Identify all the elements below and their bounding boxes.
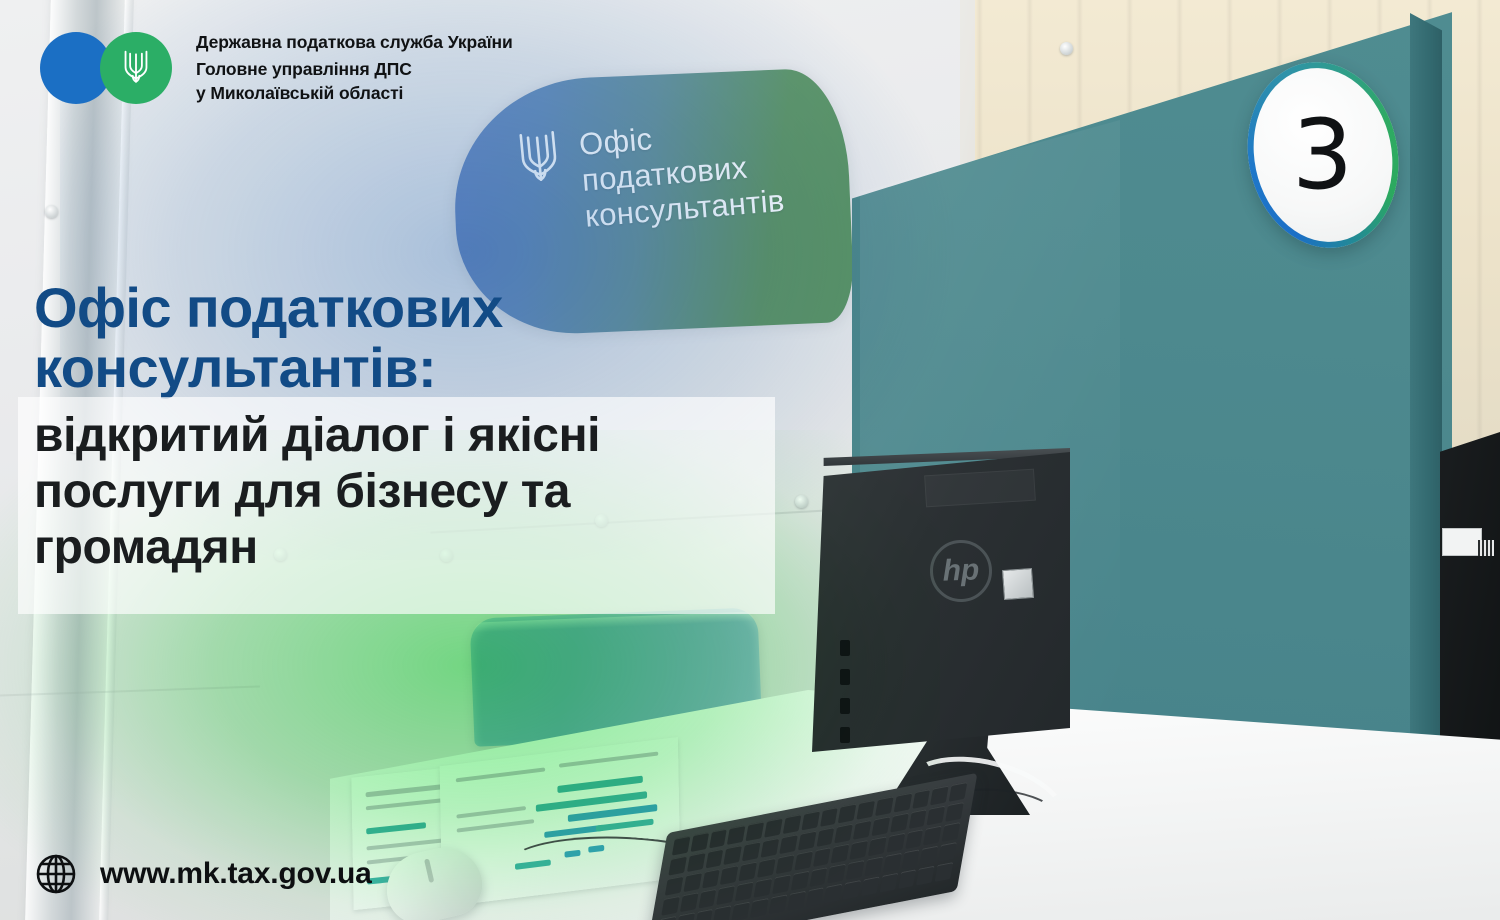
website-url[interactable]: www.mk.tax.gov.ua — [100, 857, 372, 891]
room-number-value: 3 — [1292, 107, 1353, 203]
footer: www.mk.tax.gov.ua — [34, 852, 372, 896]
logo-line-1: Державна податкова служба України — [196, 30, 513, 54]
poster-canvas: Офіс податкових консультантів 3 — [0, 0, 1500, 920]
organisation-name: Державна податкова служба України Головн… — [196, 30, 513, 105]
monitor-label-sticker — [1442, 528, 1482, 556]
logo-line-3: у Миколаївській області — [196, 81, 513, 105]
trident-icon — [119, 47, 153, 89]
teal-partition-edge — [1410, 13, 1442, 803]
headline-line-1: Офіс податкових — [34, 276, 503, 339]
subheadline-line-2: послуги для бізнесу та — [34, 465, 570, 518]
room-number-plate: 3 — [1243, 59, 1403, 250]
wall-screw — [45, 205, 58, 218]
secondary-monitor — [1440, 432, 1500, 762]
monitor-sticker — [1002, 568, 1034, 600]
dps-green-circle — [100, 32, 172, 104]
organisation-logo: Державна податкова служба України Головн… — [40, 30, 513, 105]
subheadline-line-1: відкритий діалог і якісні — [34, 409, 600, 462]
subheadline-line-3: громадян — [34, 521, 258, 574]
subheadline: відкритий діалог і якісні послуги для бі… — [34, 408, 794, 576]
logo-line-2: Головне управління ДПС — [196, 57, 513, 81]
wall-screw — [1060, 42, 1073, 55]
qr-sticker — [1478, 540, 1494, 556]
headline-line-2: консультантів: — [34, 336, 436, 399]
headline: Офіс податкових консультантів: — [34, 278, 824, 399]
globe-icon — [34, 852, 78, 896]
